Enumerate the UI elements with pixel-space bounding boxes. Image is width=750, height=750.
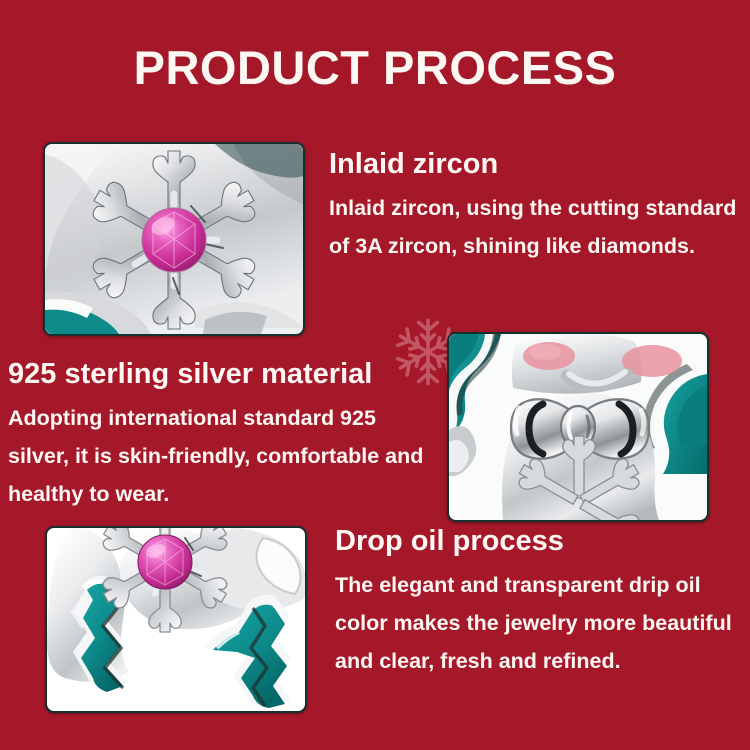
drip-oil-enamel-illustration [47,528,305,711]
section-body-drop-oil-process: The elegant and transparent drip oil col… [335,566,740,680]
section-heading-inlaid-zircon: Inlaid zircon [329,147,741,181]
infographic-root: PRODUCT PROCESS [0,0,750,750]
product-image-inlaid-zircon [43,142,305,336]
product-image-drop-oil [45,526,307,713]
product-image-sterling-silver [447,332,709,522]
section-925-sterling-silver: 925 sterling silver material Adopting in… [8,357,440,513]
section-body-inlaid-zircon: Inlaid zircon, using the cutting standar… [329,189,741,265]
section-heading-925-sterling-silver: 925 sterling silver material [8,357,440,391]
section-body-925-sterling-silver: Adopting international standard 925 silv… [8,399,440,513]
section-inlaid-zircon: Inlaid zircon Inlaid zircon, using the c… [329,147,741,265]
page-title: PRODUCT PROCESS [0,42,750,94]
snowman-charm-illustration [449,334,707,520]
section-drop-oil-process: Drop oil process The elegant and transpa… [335,524,740,680]
inlaid-zircon-illustration [45,144,303,334]
section-heading-drop-oil-process: Drop oil process [335,524,740,558]
